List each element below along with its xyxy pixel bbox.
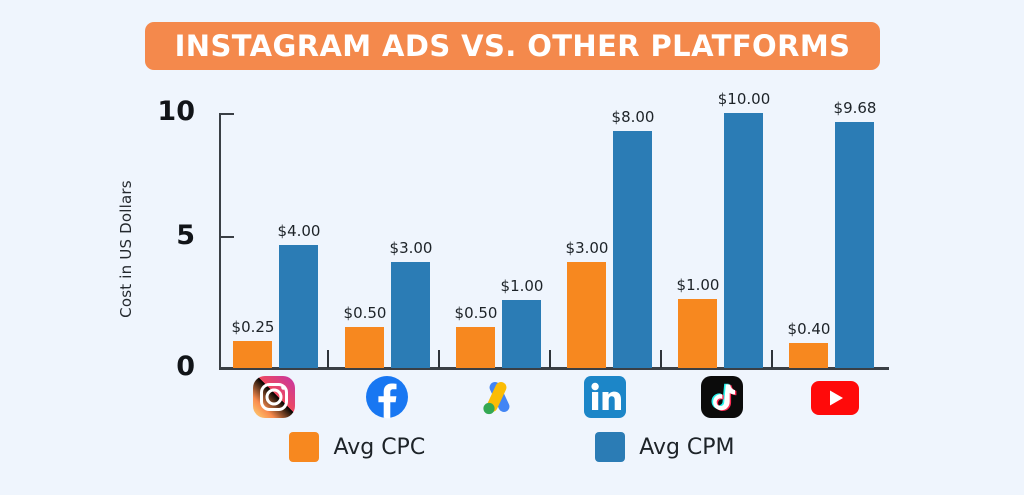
youtube-icon — [811, 381, 855, 415]
bar-cpm-youtube — [835, 122, 874, 368]
group-separator — [660, 350, 662, 368]
chart-legend: Avg CPC Avg CPM — [0, 432, 1024, 462]
bar-cpc-google-ads — [456, 327, 495, 368]
y-tick-label-10: 10 — [155, 98, 195, 125]
bar-cpc-youtube — [789, 343, 828, 368]
y-axis-tick-5 — [219, 236, 234, 238]
bar-label-cpm-google-ads: $1.00 — [501, 277, 544, 295]
orange-square-swatch-icon — [289, 432, 319, 462]
y-tick-label-5: 5 — [155, 222, 195, 249]
bar-cpm-instagram — [279, 245, 318, 368]
bar-label-cpm-linkedin: $8.00 — [612, 108, 655, 126]
bar-cpc-facebook — [345, 327, 384, 368]
facebook-icon — [365, 375, 409, 419]
instagram-icon — [252, 375, 296, 419]
bar-label-cpc-tiktok: $1.00 — [677, 276, 720, 294]
bar-label-cpc-facebook: $0.50 — [344, 304, 387, 322]
legend-label-cpc: Avg CPC — [333, 435, 425, 460]
bar-cpm-google-ads — [502, 300, 541, 368]
tiktok-icon — [700, 375, 744, 419]
legend-label-cpm: Avg CPM — [639, 435, 734, 460]
bar-cpm-linkedin — [613, 131, 652, 368]
bar-label-cpm-youtube: $9.68 — [834, 99, 877, 117]
bar-cpc-instagram — [233, 341, 272, 368]
linkedin-icon — [583, 375, 627, 419]
bar-label-cpc-youtube: $0.40 — [788, 320, 831, 338]
legend-item-cpc[interactable]: Avg CPC — [289, 432, 425, 462]
bar-label-cpm-tiktok: $10.00 — [718, 90, 771, 108]
bar-cpm-tiktok — [724, 113, 763, 368]
bar-cpc-linkedin — [567, 262, 606, 368]
bar-label-cpc-google-ads: $0.50 — [455, 304, 498, 322]
blue-square-swatch-icon — [595, 432, 625, 462]
bar-cpm-facebook — [391, 262, 430, 368]
google-ads-icon — [476, 375, 520, 419]
group-separator — [549, 350, 551, 368]
bar-label-cpm-instagram: $4.00 — [278, 222, 321, 240]
y-tick-label-0: 0 — [155, 353, 195, 380]
bar-chart: Cost in US Dollars 10 5 0 $0.25 $4.00 $0… — [0, 0, 1024, 495]
y-axis-line — [219, 113, 221, 369]
group-separator — [771, 350, 773, 368]
bar-label-cpc-instagram: $0.25 — [232, 318, 275, 336]
bar-cpc-tiktok — [678, 299, 717, 368]
legend-item-cpm[interactable]: Avg CPM — [595, 432, 734, 462]
y-axis-tick-10 — [219, 113, 234, 115]
group-separator — [438, 350, 440, 368]
bar-label-cpc-linkedin: $3.00 — [566, 239, 609, 257]
y-axis-tick-0 — [219, 367, 234, 369]
bar-label-cpm-facebook: $3.00 — [390, 239, 433, 257]
group-separator — [327, 350, 329, 368]
y-axis-title: Cost in US Dollars — [117, 119, 135, 379]
